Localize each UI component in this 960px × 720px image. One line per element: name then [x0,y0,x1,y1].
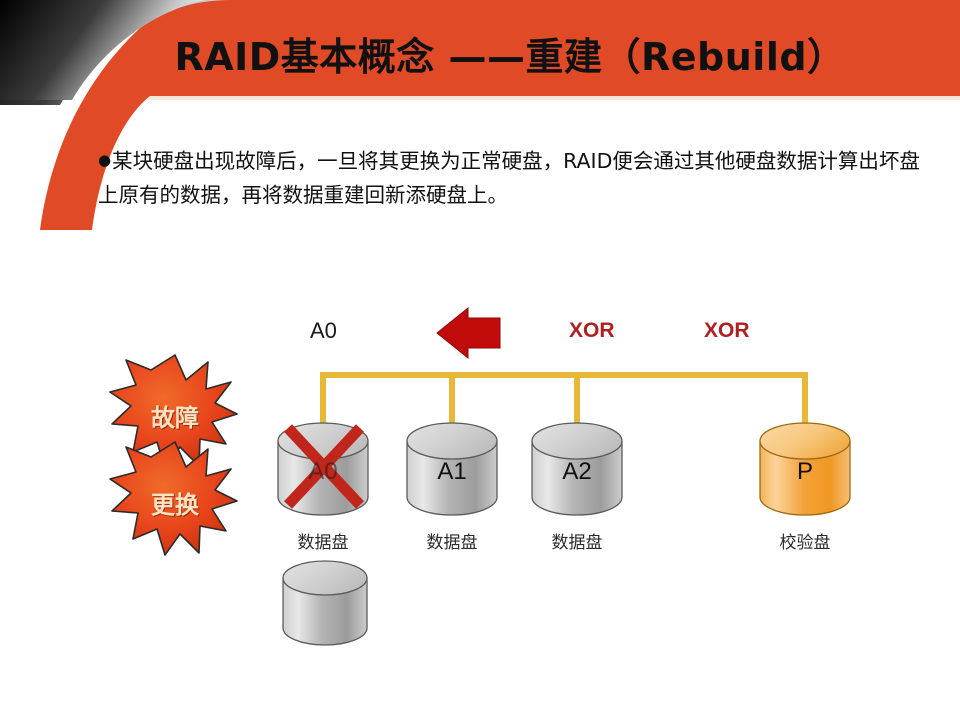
disk-p-caption: 校验盘 [735,528,875,553]
burst-replace-shape [110,442,237,555]
top-data-label-a0: A0 [310,318,337,344]
left-arrow-icon [437,308,500,358]
disk-a2-label: A2 [522,458,632,486]
disk-a2-caption: 数据盘 [507,528,647,553]
xor-label-1: XOR [569,319,615,343]
slide-canvas: RAID基本概念 ——重建（Rebuild） ●某块硬盘出现故障后，一旦将其更换… [0,0,960,720]
disk-a1-caption: 数据盘 [382,528,522,553]
disk-p-label: P [750,458,860,486]
diagram-graphics [0,0,960,720]
disk-a0-caption: 数据盘 [253,528,393,553]
xor-label-2: XOR [704,319,750,343]
disk-a0-label: A0 [268,458,378,486]
bus-connector-lines [320,372,808,426]
disk-replacement-shape [283,561,367,645]
raid-rebuild-diagram: A0 XOR XOR 故障 更换 A0 A1 A2 P 数据盘 数据盘 数据盘 … [0,0,960,720]
disk-a1-label: A1 [397,458,507,486]
